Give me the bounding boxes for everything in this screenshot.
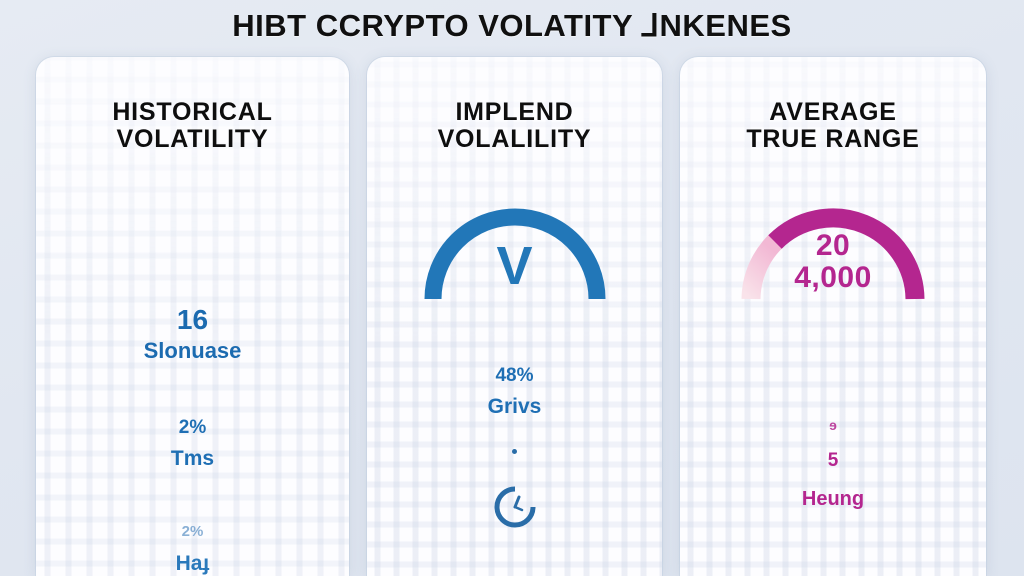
card-title-implied-volatility: IMPLEND VOLALILITY [367,99,662,153]
gauge-slot-historical [36,187,349,305]
atr-center-value-1: 20 [733,231,933,261]
stat-block-faint-historical: 2% Haɟ [36,523,349,576]
historical-mid-value: 2% [36,417,349,440]
implied-mid-value: 48% [367,365,662,388]
gauge-slot-atr: 20 4,000 [680,187,986,305]
stat-block-faint-atr: ɘ 5 Heung [680,417,986,511]
implied-volatility-gauge[interactable]: V [415,187,615,305]
average-true-range-gauge[interactable]: 20 4,000 [733,187,933,305]
historical-faint-label: Haɟ [36,551,349,576]
historical-primary-label: Slonuase [36,338,349,364]
atr-faint-value: ɘ [680,417,986,434]
card-historical-volatility[interactable]: HISTORICAL VOLATILITY 16 Slonuase 2% Tms… [36,57,349,576]
stat-block-mid-historical: 2% Tms [36,417,349,471]
card-implied-volatility[interactable]: IMPLEND VOLALILITY V 48% Grivs [367,57,662,576]
card-title-line1: AVERAGE [769,98,896,126]
historical-primary-value: 16 [36,305,349,334]
atr-center-value-2: 4,000 [733,263,933,293]
implied-mid-label: Grivs [367,394,662,419]
card-title-line1: HISTORICAL [112,98,272,126]
clock-icon[interactable] [492,484,538,530]
card-title-line2: TRUE RANGE [690,126,976,153]
card-title-line2: VOLALILITY [377,126,652,153]
stat-block-primary-historical: 16 Slonuase [36,305,349,365]
historical-faint-value: 2% [36,523,349,541]
stat-block-mid-implied: 48% Grivs [367,365,662,419]
gauge-center-values: 20 4,000 [733,231,933,293]
card-title-line2: VOLATILITY [46,126,339,153]
gauge-slot-implied: V [367,187,662,305]
card-title-historical-volatility: HISTORICAL VOLATILITY [36,99,349,153]
card-row: HISTORICAL VOLATILITY 16 Slonuase 2% Tms… [0,57,1024,576]
atr-primary-label: Heung [680,487,986,511]
dot-marker-icon [512,449,517,454]
card-average-true-range[interactable]: AVERAGE TRUE RANGE [680,57,986,576]
gauge-center-mark: V [415,239,615,293]
page-title: HIBT CCRYPTO VOLATITY ⅃NKENES [0,0,1024,52]
clock-icon-wrap [367,484,662,530]
atr-mid-value: 5 [680,450,986,473]
card-title-line1: IMPLEND [455,98,573,126]
card-title-average-true-range: AVERAGE TRUE RANGE [680,99,986,153]
historical-mid-label: Tms [36,446,349,471]
